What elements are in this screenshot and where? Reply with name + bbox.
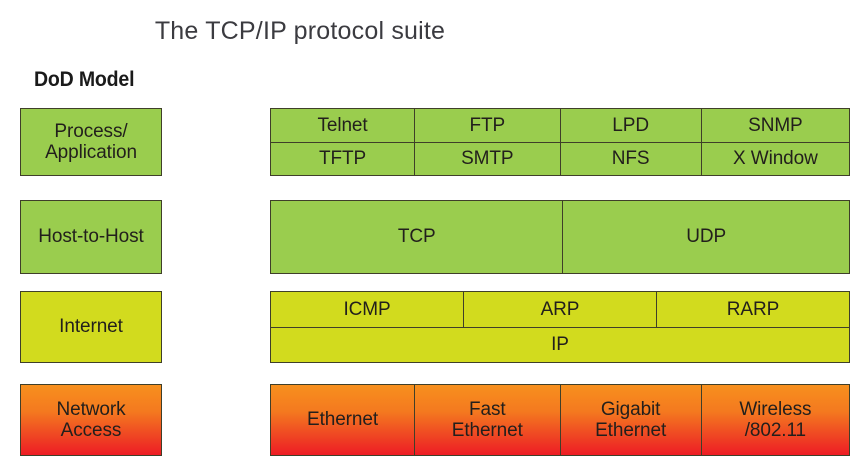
layer-name-box-host-to-host: Host-to-Host	[20, 200, 162, 274]
protocol-cell-nfs[interactable]: NFS	[560, 143, 701, 176]
protocol-row: Telnet FTP LPD SNMP	[271, 109, 849, 142]
layer-name-text: Process/ Application	[45, 121, 137, 164]
label-line1: Fast	[469, 399, 506, 420]
protocol-row: TFTP SMTP NFS X Window	[271, 142, 849, 176]
protocol-cell-tcp[interactable]: TCP	[271, 201, 562, 273]
layer-name-box-network-access: Network Access	[20, 384, 162, 456]
protocol-cell-telnet[interactable]: Telnet	[271, 109, 414, 142]
protocol-cell-ip[interactable]: IP	[271, 328, 849, 363]
layer-name-line2: Access	[61, 420, 122, 441]
protocol-cell-label: Gigabit Ethernet	[595, 399, 666, 442]
protocol-cell-wireless-802-11[interactable]: Wireless /802.11	[701, 385, 849, 455]
protocol-cell-lpd[interactable]: LPD	[560, 109, 701, 142]
protocol-cell-label: Fast Ethernet	[452, 399, 523, 442]
label-line2: Ethernet	[595, 420, 666, 441]
page-title: The TCP/IP protocol suite	[0, 17, 600, 46]
protocol-cell-ftp[interactable]: FTP	[414, 109, 559, 142]
protocol-row: TCP UDP	[271, 201, 849, 273]
protocol-cell-label: Ethernet	[307, 409, 378, 430]
protocol-cell-snmp[interactable]: SNMP	[701, 109, 849, 142]
protocol-cell-label: Wireless /802.11	[739, 399, 811, 442]
layer-name-text: Internet	[59, 316, 123, 337]
protocol-cell-ethernet[interactable]: Ethernet	[271, 385, 414, 455]
layer-name-text: Host-to-Host	[38, 226, 143, 247]
layer-row-network-access: Network Access Ethernet Fast Ethernet Gi…	[0, 384, 860, 456]
layer-name-line2: Application	[45, 142, 137, 163]
protocol-cell-icmp[interactable]: ICMP	[271, 292, 463, 327]
protocol-row: Ethernet Fast Ethernet Gigabit Ethernet	[271, 385, 849, 455]
label-line2: /802.11	[745, 420, 806, 441]
protocol-cell-tftp[interactable]: TFTP	[271, 143, 414, 176]
layer-row-process-application: Process/ Application Telnet FTP LPD SNMP…	[0, 108, 860, 176]
protocol-table-host-to-host: TCP UDP	[270, 200, 850, 274]
label-line1: Gigabit	[601, 399, 661, 420]
dod-model-label: DoD Model	[34, 68, 134, 92]
tcpip-protocol-suite-diagram: The TCP/IP protocol suite DoD Model Proc…	[0, 0, 860, 463]
protocol-cell-rarp[interactable]: RARP	[656, 292, 849, 327]
layer-row-host-to-host: Host-to-Host TCP UDP	[0, 200, 860, 274]
protocol-table-process-application: Telnet FTP LPD SNMP TFTP SMTP NFS X Wind…	[270, 108, 850, 176]
protocol-table-internet: ICMP ARP RARP IP	[270, 291, 850, 363]
protocol-cell-smtp[interactable]: SMTP	[414, 143, 559, 176]
layer-row-internet: Internet ICMP ARP RARP IP	[0, 291, 860, 363]
protocol-cell-arp[interactable]: ARP	[463, 292, 656, 327]
layer-name-line1: Process/	[54, 121, 127, 142]
layer-name-line1: Network	[57, 399, 126, 420]
protocol-row: IP	[271, 327, 849, 363]
protocol-cell-gigabit-ethernet[interactable]: Gigabit Ethernet	[560, 385, 701, 455]
label-line1: Wireless	[739, 399, 811, 420]
protocol-row: ICMP ARP RARP	[271, 292, 849, 327]
layer-name-box-process-application: Process/ Application	[20, 108, 162, 176]
label-line2: Ethernet	[452, 420, 523, 441]
protocol-cell-fast-ethernet[interactable]: Fast Ethernet	[414, 385, 559, 455]
layer-name-box-internet: Internet	[20, 291, 162, 363]
protocol-cell-x-window[interactable]: X Window	[701, 143, 849, 176]
protocol-table-network-access: Ethernet Fast Ethernet Gigabit Ethernet	[270, 384, 850, 456]
layer-name-text: Network Access	[57, 399, 126, 442]
protocol-cell-udp[interactable]: UDP	[562, 201, 849, 273]
